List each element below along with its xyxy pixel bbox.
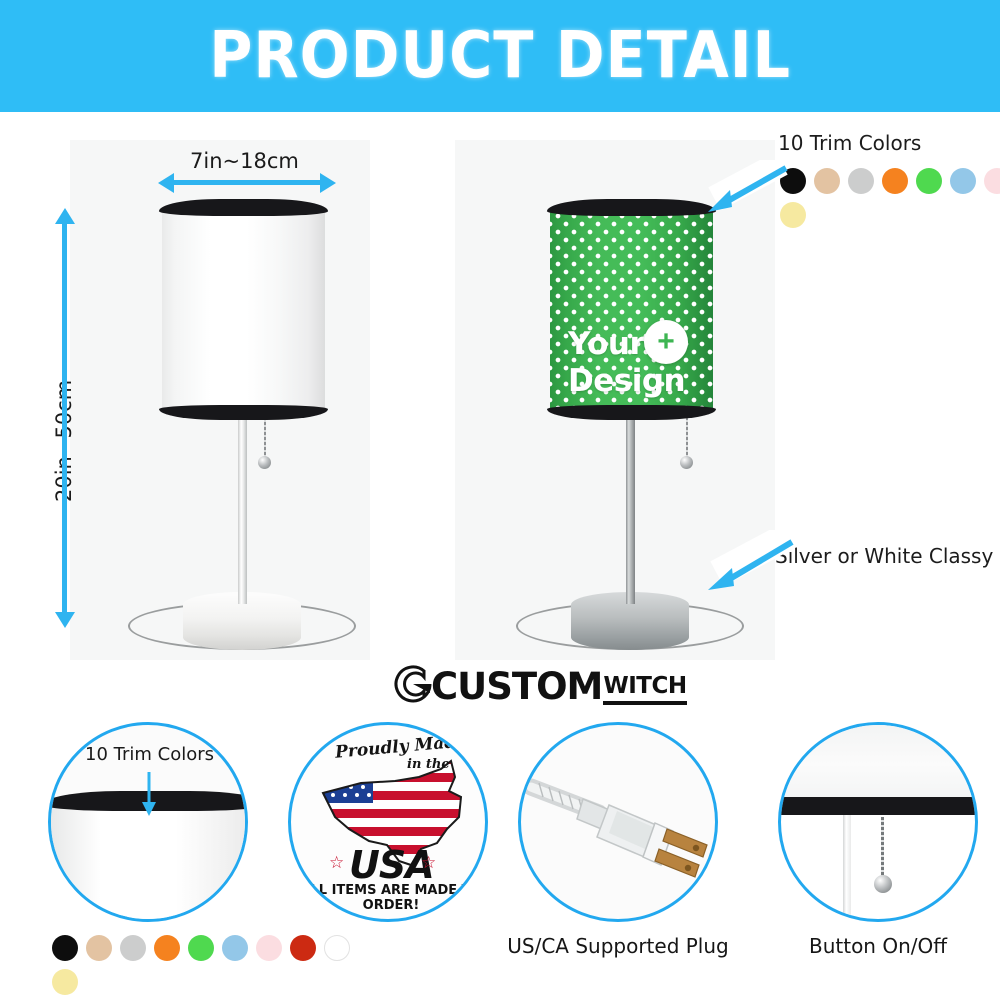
width-arrow-line <box>172 180 320 185</box>
button-closeup-pole <box>843 815 851 922</box>
shade-trim-top-white <box>159 199 328 216</box>
trim-bottom-swatch-orange[interactable] <box>154 935 180 961</box>
trim-swatch-tan[interactable] <box>814 168 840 194</box>
feature-circle-button <box>778 722 978 922</box>
logo-text-witch: WITCH <box>603 675 686 698</box>
feature-circle-usa: Proudly Made in the ☆ USA ☆ ALL ITEMS AR… <box>288 722 488 922</box>
trim-color-swatches-bottom-row1 <box>52 935 350 961</box>
trim-swatch-green[interactable] <box>916 168 942 194</box>
width-dimension-label: 7in~18cm <box>190 149 299 173</box>
base-finish-arrow <box>700 530 800 600</box>
power-plug-icon <box>521 725 718 922</box>
trim-bottom-swatch-light-blue[interactable] <box>222 935 248 961</box>
width-arrow-head-left <box>158 173 174 193</box>
trim-swatch-orange[interactable] <box>882 168 908 194</box>
feature-trim-label: 10 Trim Colors <box>85 744 214 765</box>
button-closeup-chain-ball[interactable] <box>874 875 892 893</box>
trim-bottom-swatch-tan[interactable] <box>86 935 112 961</box>
feature-plug-caption: US/CA Supported Plug <box>500 934 736 958</box>
trim-swatch-light-blue[interactable] <box>950 168 976 194</box>
trim-bottom-swatch-pink[interactable] <box>256 935 282 961</box>
shade-surface-white <box>162 208 325 412</box>
trim-colors-label-top: 10 Trim Colors <box>778 131 921 155</box>
feature-trim-arrow <box>141 772 157 816</box>
trim-closeup-shade-body <box>48 803 248 922</box>
logo-underline <box>603 701 686 705</box>
trim-color-swatches-bottom-row2 <box>52 969 78 995</box>
height-arrow-head-bottom <box>55 612 75 628</box>
shade-trim-bottom-white <box>159 405 328 420</box>
usa-badge-line4: ALL ITEMS ARE MADE TO ORDER! <box>299 883 483 913</box>
design-text-line1: Your <box>568 326 644 362</box>
pull-chain-ball-white <box>258 456 271 469</box>
lamp-pole-silver <box>626 412 635 604</box>
lamp-pole-white <box>238 412 247 604</box>
logo-c-icon <box>392 663 434 705</box>
trim-callout-arrow-top <box>700 160 790 220</box>
trim-swatch-gray[interactable] <box>848 168 874 194</box>
pull-chain-green <box>686 412 688 460</box>
height-arrow-head-top <box>55 208 75 224</box>
base-finish-label: Silver or White Classy <box>775 544 993 568</box>
add-design-plus-icon[interactable]: + <box>644 320 688 364</box>
shade-trim-bottom-green <box>547 405 716 420</box>
trim-bottom-swatch-green[interactable] <box>188 935 214 961</box>
usa-badge-line2: in the <box>407 757 450 772</box>
feature-button-caption: Button On/Off <box>760 934 996 958</box>
pull-chain-ball-green <box>680 456 693 469</box>
usa-badge-star-left: ☆ <box>329 853 344 873</box>
height-arrow-line <box>62 222 67 612</box>
trim-bottom-swatch-gray[interactable] <box>120 935 146 961</box>
trim-bottom-swatch-yellow[interactable] <box>52 969 78 995</box>
button-closeup-chain <box>881 817 884 879</box>
button-closeup-shade <box>778 722 978 797</box>
main-stage: Your + Design 7in~18cm 20in~50cm 10 Trim… <box>0 112 1000 712</box>
trim-bottom-swatch-black[interactable] <box>52 935 78 961</box>
width-arrow-head-right <box>320 173 336 193</box>
design-text-line2: Design <box>568 363 685 399</box>
header-banner: PRODUCT DETAIL <box>0 0 1000 112</box>
lamp-shade-green: Your + Design <box>550 208 713 412</box>
button-closeup-trim <box>778 797 978 815</box>
trim-swatch-pink[interactable] <box>984 168 1000 194</box>
trim-color-swatches-top-row1 <box>780 168 1000 194</box>
shade-trim-top-green <box>547 199 716 216</box>
logo-witch-group: WITCH <box>603 675 686 705</box>
product-detail-infographic: PRODUCT DETAIL <box>0 0 1000 1000</box>
page-title: PRODUCT DETAIL <box>209 19 791 93</box>
logo-text-custom: CUSTOM <box>431 668 602 705</box>
brand-logo: CUSTOM WITCH <box>392 663 687 705</box>
trim-bottom-swatch-white[interactable] <box>324 935 350 961</box>
lamp-shade-white <box>162 208 325 412</box>
usa-badge-star-right: ☆ <box>421 853 436 873</box>
trim-bottom-swatch-red[interactable] <box>290 935 316 961</box>
feature-circle-plug <box>518 722 718 922</box>
